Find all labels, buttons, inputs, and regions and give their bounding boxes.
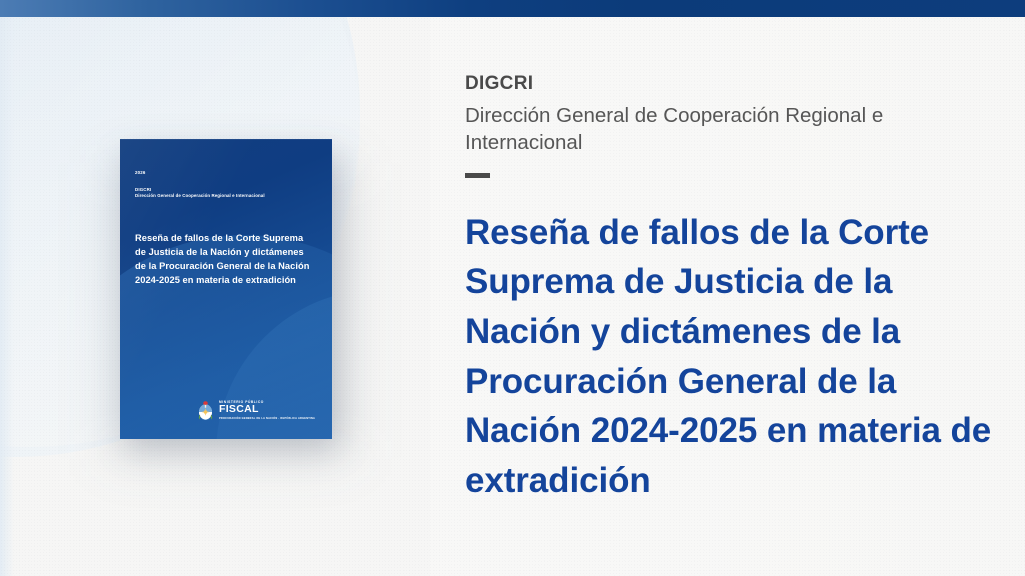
page-title: Reseña de fallos de la Corte Suprema de … [465, 208, 995, 506]
book-cover-mockup: 2026 DIGCRI Dirección General de Coopera… [120, 139, 332, 439]
content-column: DIGCRI Dirección General de Cooperación … [465, 17, 1005, 529]
top-accent-bar [0, 0, 1025, 17]
cover-org-name: Dirección General de Cooperación Regiona… [135, 193, 265, 199]
header-abbr: DIGCRI [465, 73, 1005, 96]
cover-organization-block: DIGCRI Dirección General de Cooperación … [135, 187, 265, 200]
logo-sub-line: PROCURACIÓN GENERAL DE LA NACIÓN · REPÚB… [219, 417, 315, 421]
poster-canvas: 2026 DIGCRI Dirección General de Coopera… [0, 0, 1025, 576]
cover-year: 2026 [135, 171, 146, 175]
book-cover: 2026 DIGCRI Dirección General de Coopera… [120, 139, 332, 439]
divider-dash [465, 173, 490, 178]
mpf-logo: MINISTERIO PÚBLICO FISCAL PROCURACIÓN GE… [197, 400, 315, 421]
argentina-coat-of-arms-icon [197, 400, 214, 421]
logo-wordmark: FISCAL [219, 405, 315, 415]
cover-title: Reseña de fallos de la Corte Suprema de … [135, 231, 313, 288]
header-organization: Dirección General de Cooperación Regiona… [465, 102, 905, 157]
